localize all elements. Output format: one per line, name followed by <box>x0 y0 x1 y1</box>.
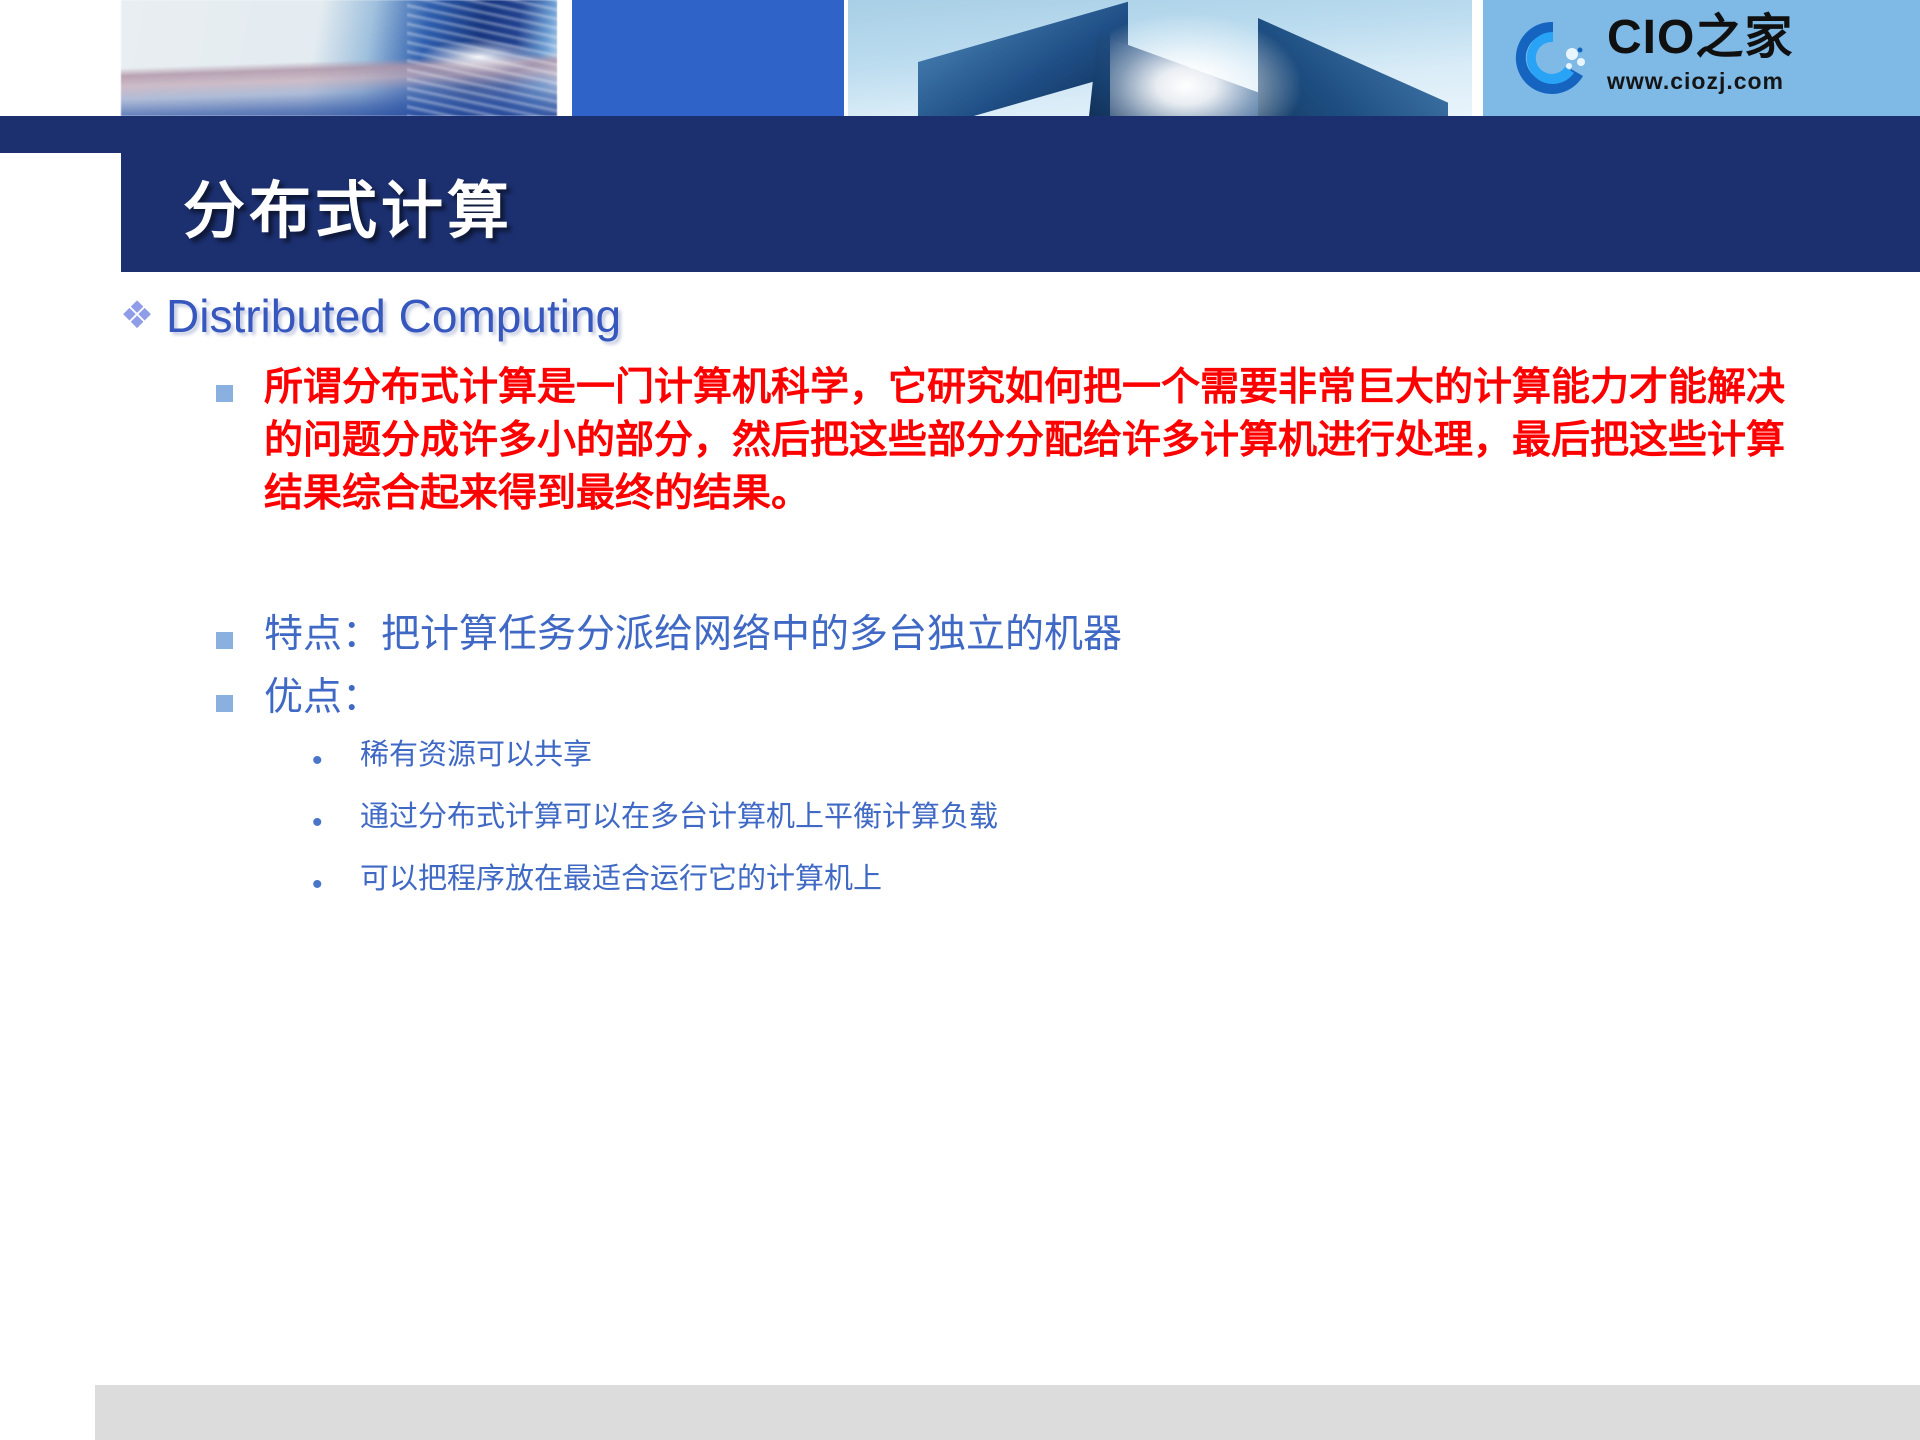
advantages-label: 优点： <box>264 671 381 724</box>
dot-bullet-icon: • <box>312 734 360 776</box>
banner-logo-panel: CIO之家 www.ciozj.com <box>1483 0 1920 116</box>
cio-circle-logo-icon <box>1511 16 1595 100</box>
slide-body: ❖ Distributed Computing 所谓分布式计算是一门计算机科学，… <box>0 285 1920 1375</box>
square-bullet-icon <box>216 361 264 402</box>
logo-text-block: CIO之家 www.ciozj.com <box>1607 10 1907 96</box>
list-item: • 通过分布式计算可以在多台计算机上平衡计算负载 <box>312 796 1920 838</box>
square-bullet-icon <box>216 608 264 649</box>
advantages-row: 优点： <box>216 671 1920 724</box>
banner-solid-blue-panel <box>572 0 844 116</box>
slide-title: 分布式计算 <box>183 160 513 250</box>
vertical-spacer <box>0 530 1920 608</box>
heading-distributed-computing: Distributed Computing <box>166 285 621 347</box>
logo-title: CIO之家 <box>1607 10 1907 66</box>
square-bullet-icon <box>216 671 264 712</box>
diamond-bullet-icon: ❖ <box>120 285 166 347</box>
header-banner: CIO之家 www.ciozj.com <box>0 0 1920 116</box>
advantage-text-3: 可以把程序放在最适合运行它的计算机上 <box>360 858 882 898</box>
dot-bullet-icon: • <box>312 858 360 900</box>
title-band-upper-stripe <box>0 116 1920 153</box>
banner-image-hands-typing <box>121 0 557 116</box>
definition-row: 所谓分布式计算是一门计算机科学，它研究如何把一个需要非常巨大的计算能力才能解决的… <box>216 361 1920 520</box>
dot-bullet-icon: • <box>312 796 360 838</box>
definition-text: 所谓分布式计算是一门计算机科学，它研究如何把一个需要非常巨大的计算能力才能解决的… <box>264 361 1804 520</box>
sun-glare <box>1110 14 1300 116</box>
list-item: • 可以把程序放在最适合运行它的计算机上 <box>312 858 1920 900</box>
footer-bar <box>95 1385 1920 1440</box>
list-item: • 稀有资源可以共享 <box>312 734 1920 776</box>
advantage-text-1: 稀有资源可以共享 <box>360 734 592 774</box>
logo-website-url: www.ciozj.com <box>1607 66 1907 96</box>
advantage-text-2: 通过分布式计算可以在多台计算机上平衡计算负载 <box>360 796 998 836</box>
feature-row: 特点：把计算任务分派给网络中的多台独立的机器 <box>216 608 1920 661</box>
light-flare <box>419 40 539 74</box>
banner-image-skyscrapers <box>848 0 1472 116</box>
heading-row: ❖ Distributed Computing <box>120 285 1920 347</box>
feature-text: 特点：把计算任务分派给网络中的多台独立的机器 <box>264 608 1122 661</box>
